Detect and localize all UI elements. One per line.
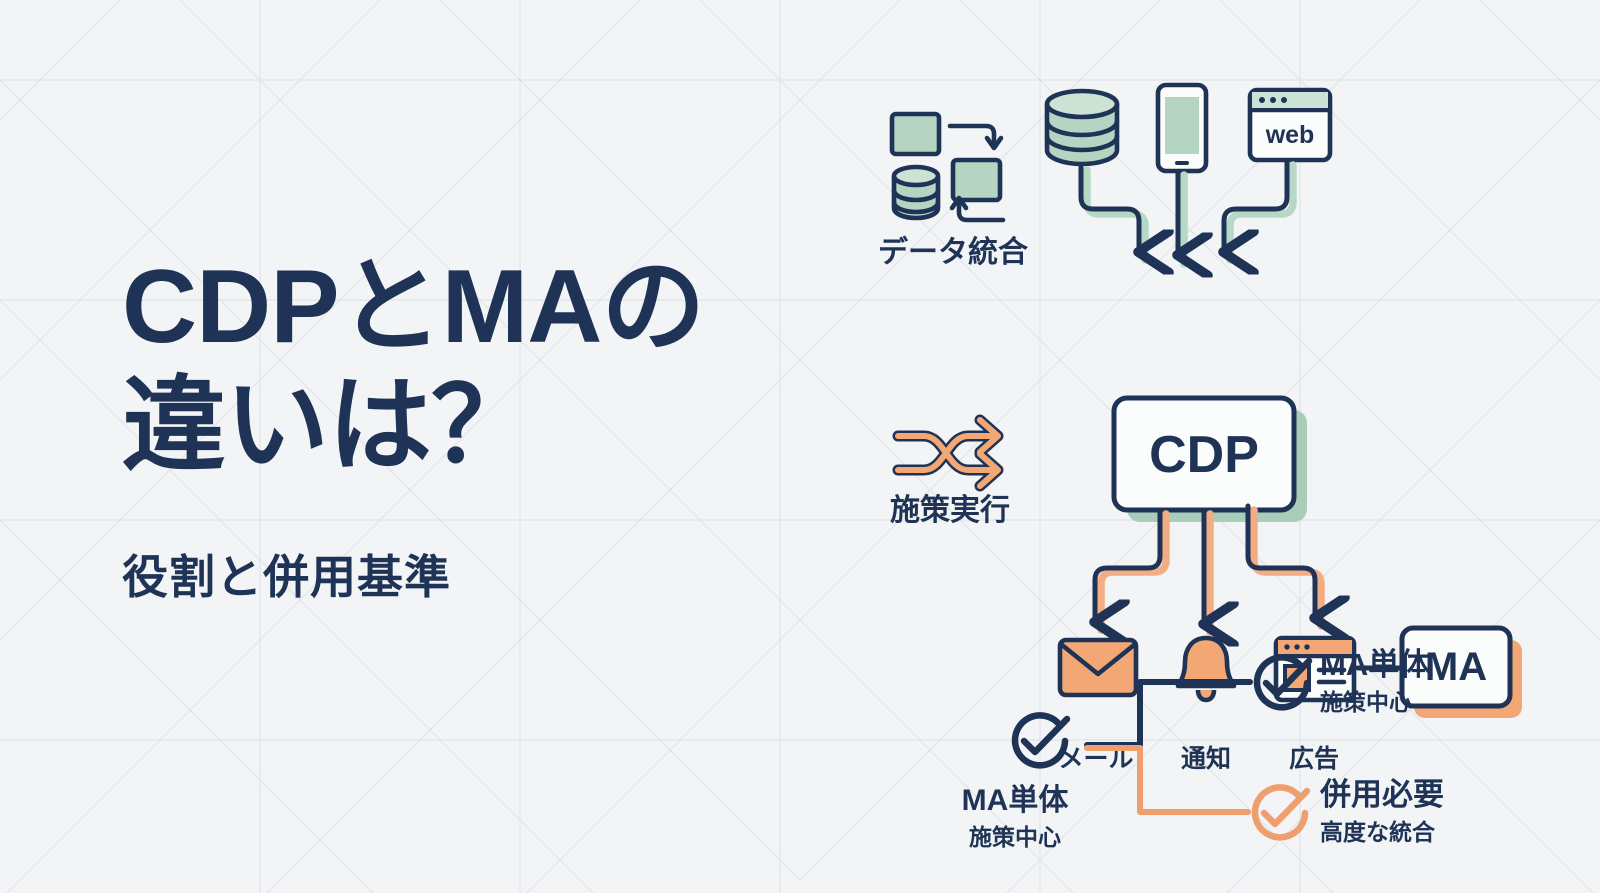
- tree-root-title: MA単体: [962, 784, 1070, 817]
- bell-icon: [1178, 638, 1234, 700]
- tree-branch2-title: 併用必要: [1319, 777, 1444, 812]
- source-connectors-shadow: [1087, 165, 1293, 264]
- ma-label: MA: [1425, 645, 1487, 689]
- web-icon-label: web: [1265, 121, 1315, 149]
- smartphone-icon: [1158, 85, 1206, 171]
- data-sync-icon: [892, 114, 1003, 220]
- output-connectors-shadow: [1101, 510, 1321, 632]
- diagram-svg: web CDP: [850, 70, 1570, 860]
- cdp-hub: CDP: [1114, 398, 1307, 522]
- web-browser-icon: web: [1250, 90, 1330, 160]
- page-title: CDPとMAの 違いは？: [122, 248, 782, 485]
- integration-label: データ統合: [878, 235, 1028, 269]
- cdp-label: CDP: [1149, 426, 1259, 484]
- envelope-icon: [1060, 640, 1136, 695]
- output-label-ads: 広告: [1289, 744, 1339, 773]
- tree-root-subtitle: 施策中心: [969, 824, 1061, 850]
- shuffle-icon: [898, 420, 998, 486]
- database-icon: [1047, 91, 1117, 164]
- page-subtitle: 役割と併用基準: [122, 541, 782, 607]
- output-connectors: [1095, 506, 1315, 624]
- execution-label: 施策実行: [890, 493, 1010, 527]
- tree-branch1-title: MA単体: [1320, 647, 1430, 682]
- check-circle-icon: [1015, 715, 1067, 765]
- check-circle-icon: [1255, 787, 1307, 837]
- hero-text-block: CDPとMAの 違いは？ 役割と併用基準: [122, 248, 782, 607]
- tree-branch2-subtitle: 高度な統合: [1320, 819, 1436, 845]
- cdp-ma-diagram: web CDP: [850, 70, 1570, 860]
- tree-branch1-subtitle: 施策中心: [1320, 689, 1412, 715]
- output-label-push: 通知: [1181, 745, 1231, 773]
